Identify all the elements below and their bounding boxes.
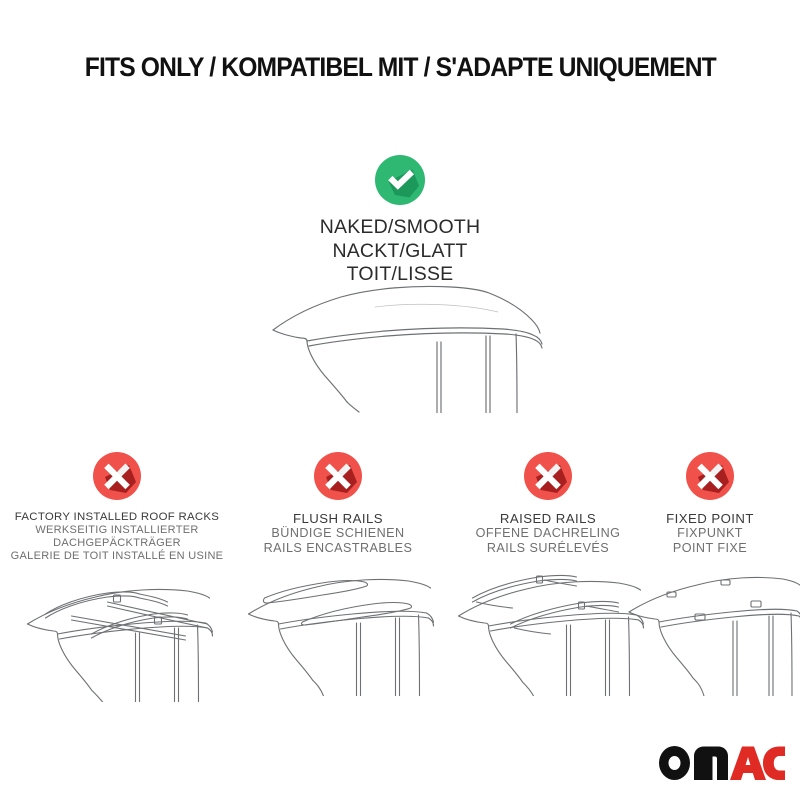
incompatible-roof-types-row: FACTORY INSTALLED ROOF RACKS WERKSEITIG … [0, 452, 800, 792]
page-title-text: FITS ONLY / KOMPATIBEL MIT / S'ADAPTE UN… [84, 52, 715, 83]
incompatible-labels: FLUSH RAILS BÜNDIGE SCHIENEN RAILS ENCAS… [240, 511, 436, 556]
omac-logo-letter-a [730, 747, 766, 781]
omac-logo-letter-m [694, 747, 728, 781]
incompatible-label-fr: RAILS ENCASTRABLES [240, 541, 436, 556]
omac-logo [655, 742, 785, 788]
incompatible-labels: FACTORY INSTALLED ROOF RACKS WERKSEITIG … [0, 511, 234, 562]
x-circle-icon [93, 452, 141, 500]
incompatible-label-de: FIXPUNKT [620, 526, 800, 541]
incompatible-label-de: BÜNDIGE SCHIENEN [240, 526, 436, 541]
incompatible-label-en: FACTORY INSTALLED ROOF RACKS [0, 511, 234, 524]
x-circle-icon [686, 452, 734, 500]
incompatible-labels: FIXED POINT FIXPUNKT POINT FIXE [620, 511, 800, 556]
page-title: FITS ONLY / KOMPATIBEL MIT / S'ADAPTE UN… [0, 52, 800, 83]
incompatible-label-de-2: DACHGEPÄCKTRÄGER [0, 537, 234, 550]
incompatible-label-fr: GALERIE DE TOIT INSTALLÉ EN USINE [0, 550, 234, 563]
car-roof-naked-smooth-illustration [255, 278, 555, 413]
incompatible-label-en: FLUSH RAILS [240, 511, 436, 526]
compatible-roof-type-panel: NAKED/SMOOTH NACKT/GLATT TOIT/LISSE [0, 155, 800, 287]
compatible-roof-type-labels: NAKED/SMOOTH NACKT/GLATT TOIT/LISSE [0, 216, 800, 287]
incompatible-option-fixed-point: FIXED POINT FIXPUNKT POINT FIXE [620, 452, 800, 556]
incompatible-label-fr: POINT FIXE [620, 541, 800, 556]
x-circle-icon [314, 452, 362, 500]
x-circle-icon [524, 452, 572, 500]
incompatible-label-de-1: WERKSEITIG INSTALLIERTER [0, 524, 234, 537]
car-roof-factory-rack-illustration [10, 562, 225, 702]
car-roof-flush-rails-illustration [231, 556, 446, 696]
car-roof-fixed-point-illustration [615, 556, 800, 696]
compatible-label-en: NAKED/SMOOTH [0, 216, 800, 240]
omac-logo-letter-o [659, 746, 690, 780]
compatible-label-de: NACKT/GLATT [0, 240, 800, 264]
check-circle-icon [375, 155, 425, 205]
omac-logo-letter-c [763, 747, 785, 781]
incompatible-label-en: FIXED POINT [620, 511, 800, 526]
incompatible-option-flush-rails: FLUSH RAILS BÜNDIGE SCHIENEN RAILS ENCAS… [240, 452, 436, 556]
incompatible-option-factory-installed-roof-racks: FACTORY INSTALLED ROOF RACKS WERKSEITIG … [0, 452, 234, 562]
